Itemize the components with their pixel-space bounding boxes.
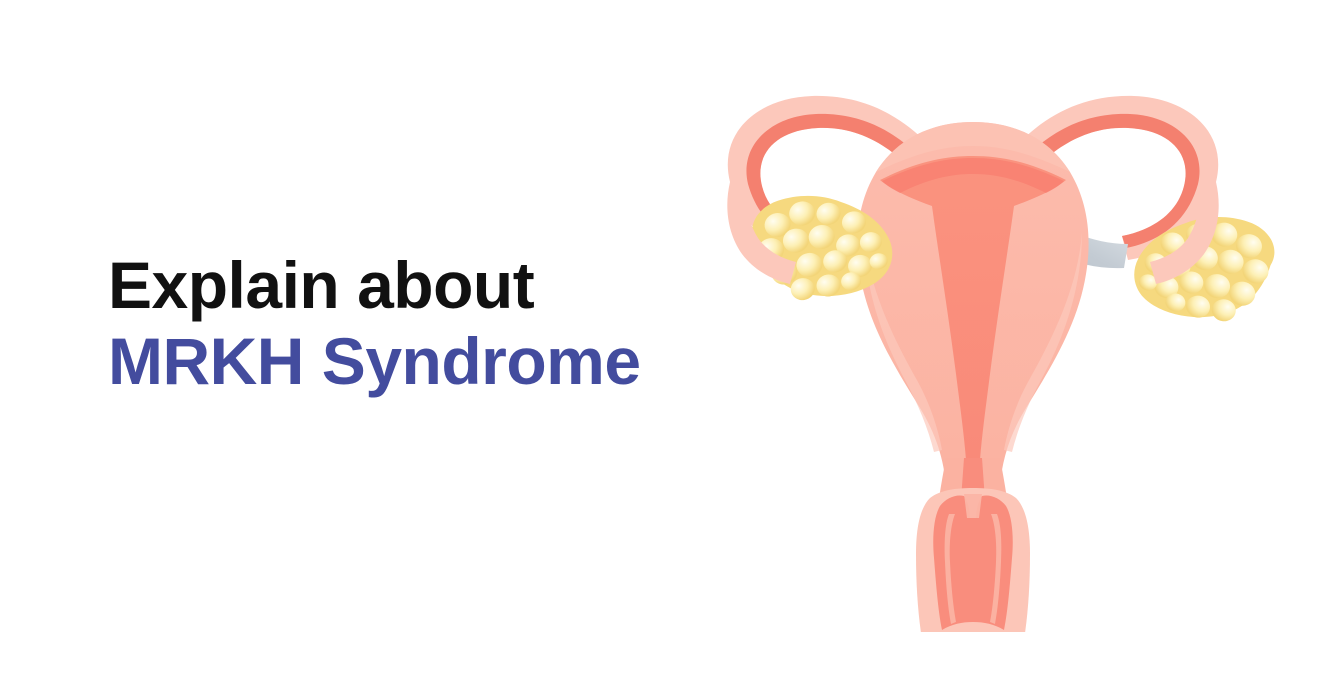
uterus-illustration [668,62,1278,632]
poster-canvas: Explain about MRKH Syndrome [0,0,1329,683]
